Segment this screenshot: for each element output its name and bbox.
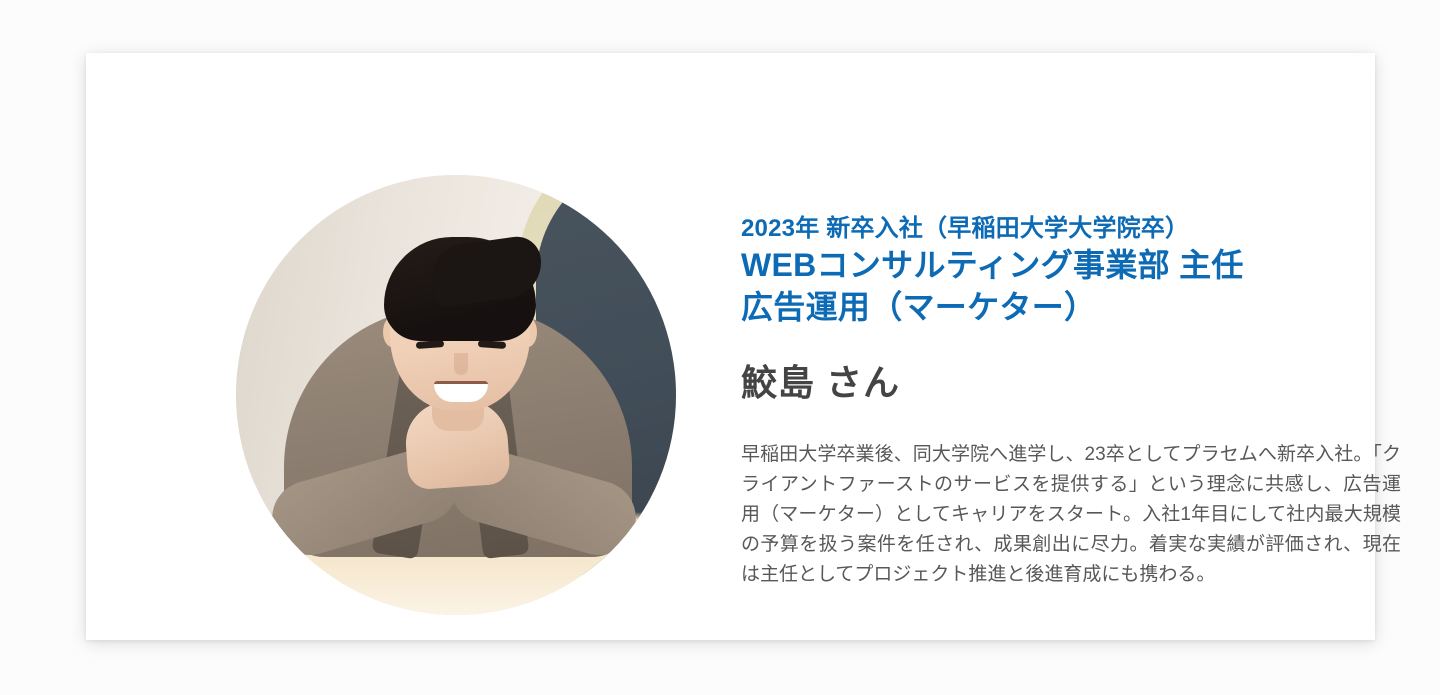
role-department-and-title: WEBコンサルティング事業部 主任 (741, 245, 1406, 287)
profile-card: 2023年 新卒入社（早稲田大学大学院卒） WEBコンサルティング事業部 主任 … (86, 53, 1375, 640)
photo-smile (434, 381, 488, 402)
photo-scene (236, 175, 676, 615)
role-heading: 2023年 新卒入社（早稲田大学大学院卒） WEBコンサルティング事業部 主任 … (741, 213, 1406, 328)
photo-nose (454, 353, 468, 375)
page-stage: 2023年 新卒入社（早稲田大学大学院卒） WEBコンサルティング事業部 主任 … (0, 0, 1440, 695)
person-name: 鮫島 さん (741, 354, 1406, 406)
role-entry-year-and-school: 2023年 新卒入社（早稲田大学大学院卒） (741, 213, 1406, 245)
role-job-function: 広告運用（マーケター） (741, 287, 1406, 329)
person-bio: 早稲田大学卒業後、同大学院へ進学し、23卒としてプラセムへ新卒入社。「クライアン… (741, 440, 1401, 590)
profile-photo (236, 175, 676, 615)
profile-info: 2023年 新卒入社（早稲田大学大学院卒） WEBコンサルティング事業部 主任 … (741, 213, 1406, 590)
